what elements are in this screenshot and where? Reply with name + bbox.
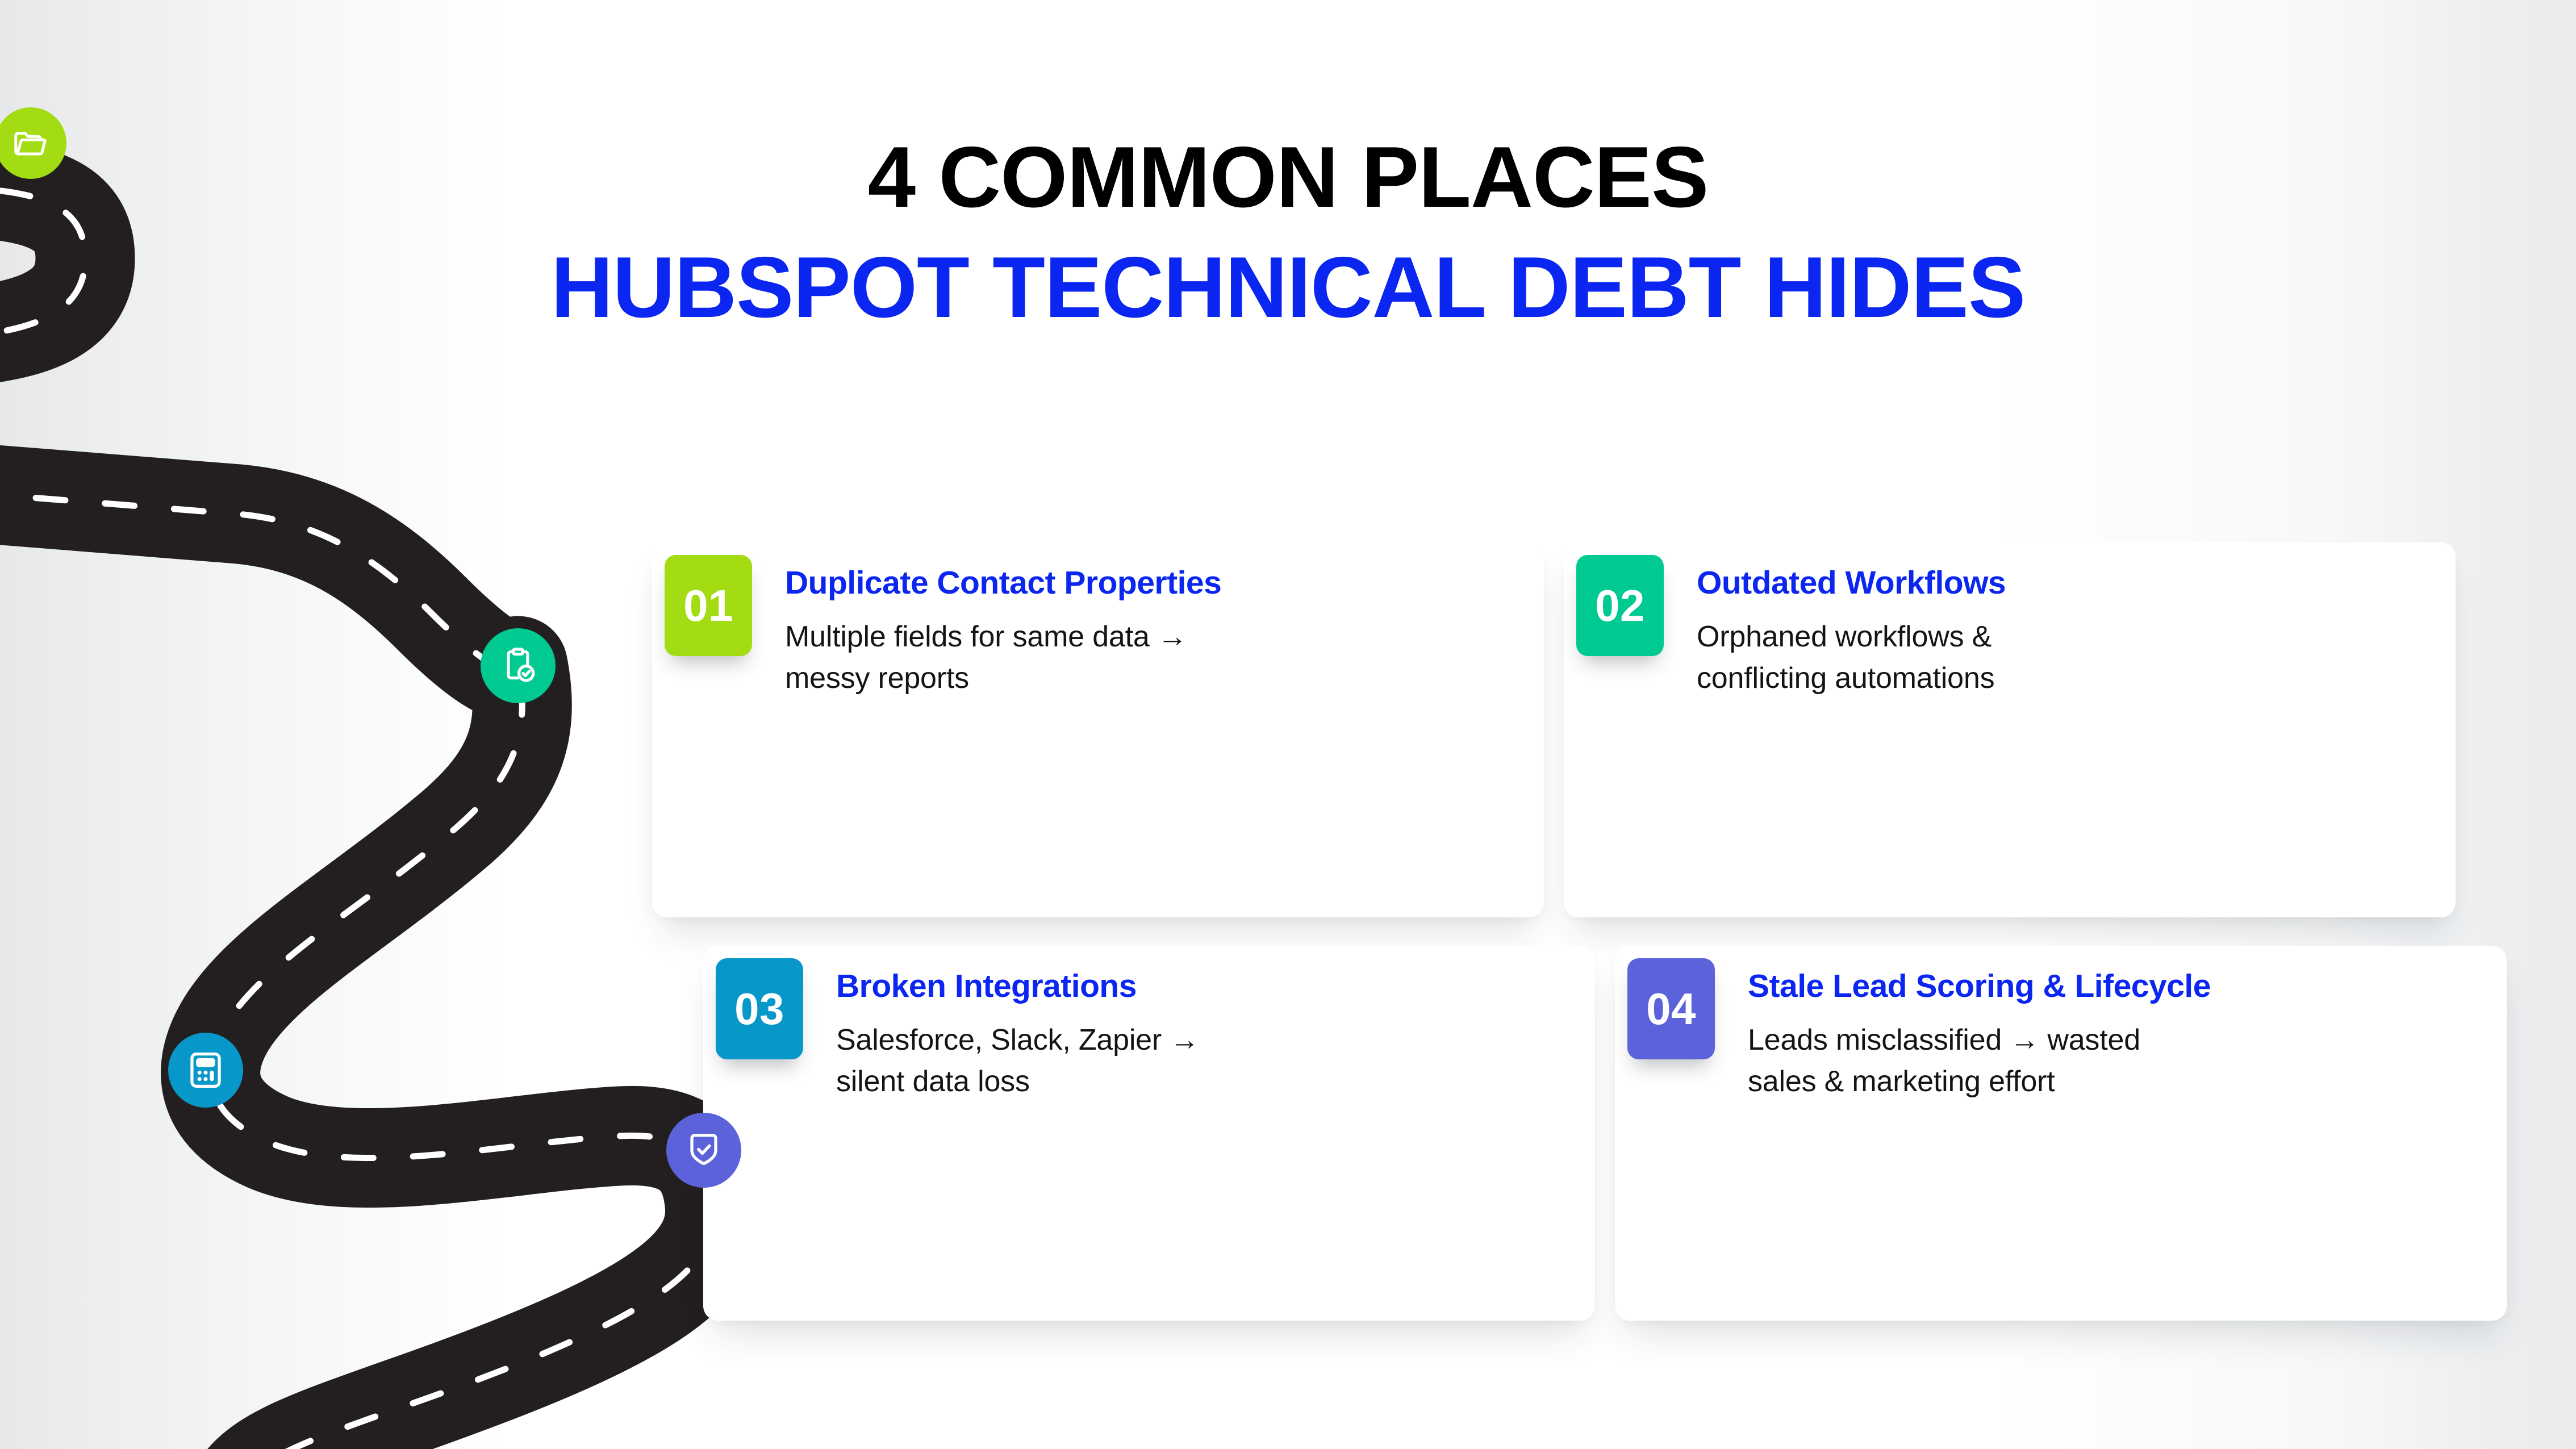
card-02-description-line-1: Orphaned workflows & — [1697, 620, 1992, 653]
infographic-canvas: 4 COMMON PLACES HUBSPOT TECHNICAL DEBT H… — [0, 0, 2576, 1449]
card-01-description-line-2: messy reports — [785, 658, 1221, 699]
page-title-line-2: HUBSPOT TECHNICAL DEBT HIDES — [0, 241, 2576, 334]
card-02-description-line-2: conflicting automations — [1697, 658, 2006, 699]
road-marker-calculator — [168, 1033, 243, 1108]
card-04-number: 04 — [1646, 983, 1696, 1035]
road-center-dashes — [0, 187, 715, 1449]
card-01-title: Duplicate Contact Properties — [785, 565, 1221, 602]
card-03-description-line-1: Salesforce, Slack, Zapier → — [836, 1024, 1199, 1057]
cards-row-bottom: 03 Broken Integrations Salesforce, Slack… — [703, 946, 2576, 1349]
card-04-title: Stale Lead Scoring & Lifecycle — [1748, 968, 2211, 1005]
card-04-description: Leads misclassified → wasted sales & mar… — [1748, 1020, 2211, 1103]
open-folder-icon — [11, 123, 51, 163]
card-02-description: Orphaned workflows & conflicting automat… — [1697, 616, 2006, 699]
calculator-icon — [185, 1049, 227, 1091]
card-02-number-badge: 02 — [1576, 555, 1664, 656]
card-04-description-line-2: sales & marketing effort — [1748, 1061, 2211, 1103]
heading-block: 4 COMMON PLACES HUBSPOT TECHNICAL DEBT H… — [0, 131, 2576, 334]
card-01-number-badge: 01 — [665, 555, 752, 656]
card-01-description: Multiple fields for same data → messy re… — [785, 616, 1221, 699]
card-01-description-line-1: Multiple fields for same data → — [785, 620, 1187, 653]
card-02-number: 02 — [1595, 580, 1645, 632]
card-04-number-badge: 04 — [1627, 958, 1715, 1059]
card-01-text: Duplicate Contact Properties Multiple fi… — [752, 542, 1244, 699]
card-02-title: Outdated Workflows — [1697, 565, 2006, 602]
road-marker-shield-check — [666, 1113, 741, 1188]
card-04[interactable]: 04 Stale Lead Scoring & Lifecycle Leads … — [1615, 946, 2507, 1321]
card-01-number: 01 — [683, 580, 733, 632]
card-03-number-badge: 03 — [716, 958, 803, 1059]
page-title-line-1: 4 COMMON PLACES — [0, 131, 2576, 224]
card-03-description: Salesforce, Slack, Zapier → silent data … — [836, 1020, 1199, 1103]
card-01[interactable]: 01 Duplicate Contact Properties Multiple… — [652, 542, 1544, 917]
card-03[interactable]: 03 Broken Integrations Salesforce, Slack… — [703, 946, 1595, 1321]
cards-grid: 01 Duplicate Contact Properties Multiple… — [652, 542, 2538, 1349]
card-04-text: Stale Lead Scoring & Lifecycle Leads mis… — [1715, 946, 2233, 1102]
card-02[interactable]: 02 Outdated Workflows Orphaned workflows… — [1564, 542, 2456, 917]
road-marker-clipboard-check — [481, 628, 556, 703]
road-path — [0, 187, 715, 1449]
cards-row-top: 01 Duplicate Contact Properties Multiple… — [652, 542, 2538, 946]
clipboard-check-icon — [497, 645, 539, 687]
card-04-description-line-1: Leads misclassified → wasted — [1748, 1024, 2140, 1057]
card-03-title: Broken Integrations — [836, 968, 1199, 1005]
card-03-description-line-2: silent data loss — [836, 1061, 1199, 1103]
shield-check-icon — [683, 1129, 725, 1171]
card-03-text: Broken Integrations Salesforce, Slack, Z… — [803, 946, 1222, 1102]
card-03-number: 03 — [734, 983, 784, 1035]
card-02-text: Outdated Workflows Orphaned workflows & … — [1664, 542, 2028, 699]
